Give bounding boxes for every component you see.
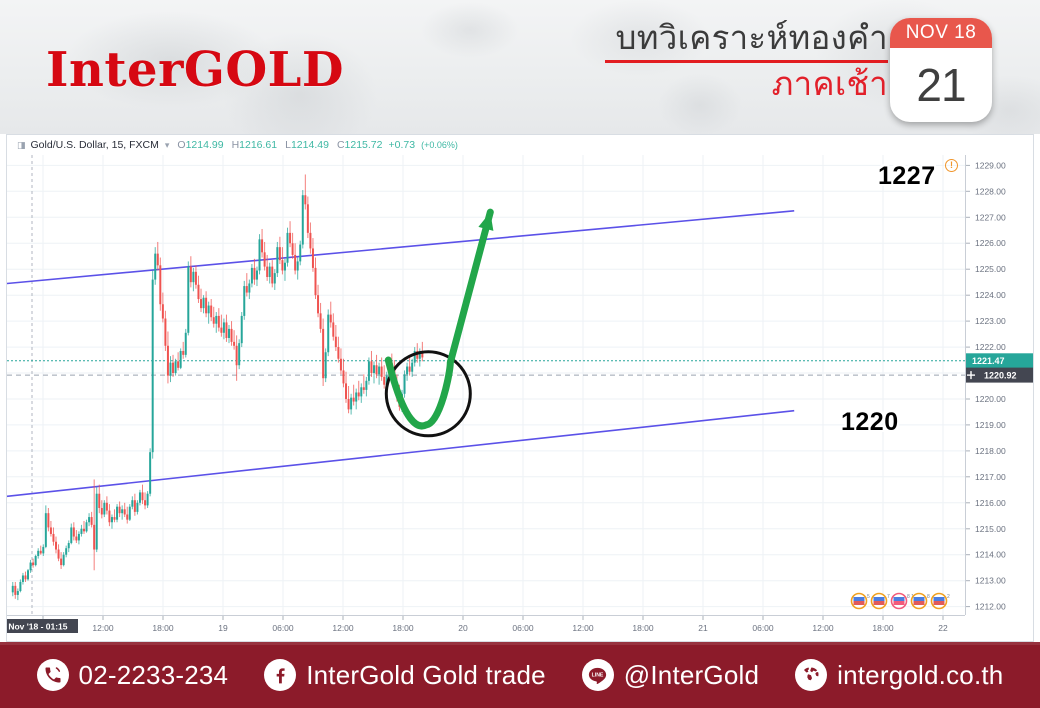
svg-text:22: 22 — [938, 623, 948, 633]
svg-text:18:00: 18:00 — [392, 623, 414, 633]
svg-text:1216.00: 1216.00 — [975, 498, 1006, 508]
svg-text:12:00: 12:00 — [572, 623, 594, 633]
title-divider — [605, 60, 888, 63]
ohlc-close: C1215.72 — [337, 139, 383, 151]
footer-line-id: @InterGold — [624, 660, 759, 691]
price-axis[interactable]: 1229.001228.001227.001226.001225.001224.… — [965, 155, 1033, 615]
svg-text:1212.00: 1212.00 — [975, 602, 1006, 612]
globe-icon — [795, 659, 827, 691]
svg-text:1223.00: 1223.00 — [975, 316, 1006, 326]
phone-icon — [37, 659, 69, 691]
ohlc-high: H1216.61 — [232, 139, 278, 151]
ohlc-change: +0.73 — [389, 139, 416, 151]
svg-text:1221.47: 1221.47 — [972, 356, 1005, 366]
facebook-icon — [264, 659, 296, 691]
footer-facebook-name: InterGold Gold trade — [306, 660, 546, 691]
footer-item-facebook[interactable]: InterGold Gold trade — [264, 659, 546, 691]
ohlc-open-value: 1214.99 — [186, 139, 224, 151]
svg-text:1220.00: 1220.00 — [975, 394, 1006, 404]
svg-text:12:00: 12:00 — [332, 623, 354, 633]
svg-text:12:00: 12:00 — [812, 623, 834, 633]
footer-phone-number: 02-2233-234 — [79, 660, 229, 691]
ohlc-low: L1214.49 — [285, 139, 329, 151]
chart-legend: ◨ Gold/U.S. Dollar, 15, FXCM ▾ O1214.99 … — [7, 135, 1033, 155]
svg-text:1225.00: 1225.00 — [975, 264, 1006, 274]
svg-text:06:00: 06:00 — [752, 623, 774, 633]
footer-item-phone[interactable]: 02-2233-234 — [37, 659, 229, 691]
calendar-day-label: 21 — [890, 48, 992, 122]
svg-text:21: 21 — [698, 623, 708, 633]
svg-text:1224.00: 1224.00 — [975, 290, 1006, 300]
eye-icon[interactable]: ◨ — [17, 140, 25, 151]
page-root: InterGOLD บทวิเคราะห์ทองคำ ภาคเช้า NOV 1… — [0, 0, 1040, 708]
title-block: บทวิเคราะห์ทองคำ ภาคเช้า — [558, 20, 888, 103]
footer-item-website[interactable]: intergold.co.th — [795, 659, 1003, 691]
time-axis-svg: 06:0012:0018:001906:0012:0018:002006:001… — [7, 616, 965, 641]
footer-item-line[interactable]: LINE @InterGold — [582, 659, 759, 691]
upper-channel — [7, 211, 794, 284]
svg-text:18:00: 18:00 — [152, 623, 174, 633]
svg-text:8: 8 — [927, 594, 930, 600]
svg-text:1217.00: 1217.00 — [975, 472, 1006, 482]
candles — [12, 174, 424, 600]
ohlc-open: O1214.99 — [177, 139, 223, 151]
svg-text:1222.00: 1222.00 — [975, 342, 1006, 352]
svg-text:1219.00: 1219.00 — [975, 420, 1006, 430]
tradingview-chart-panel[interactable]: ◨ Gold/U.S. Dollar, 15, FXCM ▾ O1214.99 … — [6, 134, 1034, 642]
ohlc-open-label: O — [177, 139, 185, 151]
calendar-icon: NOV 18 21 — [890, 18, 992, 122]
svg-text:LINE: LINE — [592, 672, 604, 678]
svg-text:1220.92: 1220.92 — [984, 370, 1017, 380]
price-axis-svg: 1229.001228.001227.001226.001225.001224.… — [966, 155, 1033, 615]
svg-text:1229.00: 1229.00 — [975, 160, 1006, 170]
chart-symbol-label[interactable]: Gold/U.S. Dollar, 15, FXCM — [31, 139, 159, 151]
ohlc-low-value: 1214.49 — [291, 139, 329, 151]
svg-text:1213.00: 1213.00 — [975, 576, 1006, 586]
ohlc-change-percent: (+0.06%) — [421, 140, 458, 150]
page-title: บทวิเคราะห์ทองคำ — [558, 20, 888, 57]
svg-text:1215.00: 1215.00 — [975, 524, 1006, 534]
chart-plot-area[interactable]: 578 1282 — [7, 155, 965, 615]
alert-info-icon[interactable]: ! — [945, 159, 958, 172]
svg-text:7: 7 — [887, 594, 890, 600]
svg-text:20: 20 — [458, 623, 468, 633]
svg-text:19: 19 — [218, 623, 228, 633]
intergold-logo: InterGOLD — [46, 42, 344, 98]
svg-text:5: 5 — [867, 594, 870, 600]
annotation-label-1227: 1227 — [878, 162, 936, 191]
candlestick-svg: 578 1282 — [7, 155, 965, 615]
ohlc-close-value: 1215.72 — [345, 139, 383, 151]
time-axis[interactable]: 06:0012:0018:001906:0012:0018:002006:001… — [7, 615, 965, 641]
footer-website-url: intergold.co.th — [837, 660, 1003, 691]
svg-text:1214.00: 1214.00 — [975, 550, 1006, 560]
ohlc-high-value: 1216.61 — [239, 139, 277, 151]
svg-text:2: 2 — [947, 594, 950, 600]
chevron-down-icon[interactable]: ▾ — [165, 140, 170, 151]
footer-contact-bar: 02-2233-234 InterGold Gold trade LINE @I… — [0, 642, 1040, 708]
calendar-month-label: NOV 18 — [890, 18, 992, 48]
svg-text:1218.00: 1218.00 — [975, 446, 1006, 456]
page-subtitle: ภาคเช้า — [558, 65, 888, 103]
svg-text:16 Nov '18 - 01:15: 16 Nov '18 - 01:15 — [7, 622, 68, 632]
svg-text:1226.00: 1226.00 — [975, 238, 1006, 248]
svg-text:18:00: 18:00 — [872, 623, 894, 633]
svg-text:1227.00: 1227.00 — [975, 212, 1006, 222]
annotation-label-1220: 1220 — [841, 408, 899, 437]
svg-text:1228.00: 1228.00 — [975, 186, 1006, 196]
svg-text:06:00: 06:00 — [512, 623, 534, 633]
line-icon: LINE — [582, 659, 614, 691]
header-banner: InterGOLD บทวิเคราะห์ทองคำ ภาคเช้า NOV 1… — [0, 0, 1040, 134]
svg-text:06:00: 06:00 — [272, 623, 294, 633]
svg-text:12:00: 12:00 — [92, 623, 114, 633]
ohlc-close-label: C — [337, 139, 345, 151]
svg-text:18:00: 18:00 — [632, 623, 654, 633]
